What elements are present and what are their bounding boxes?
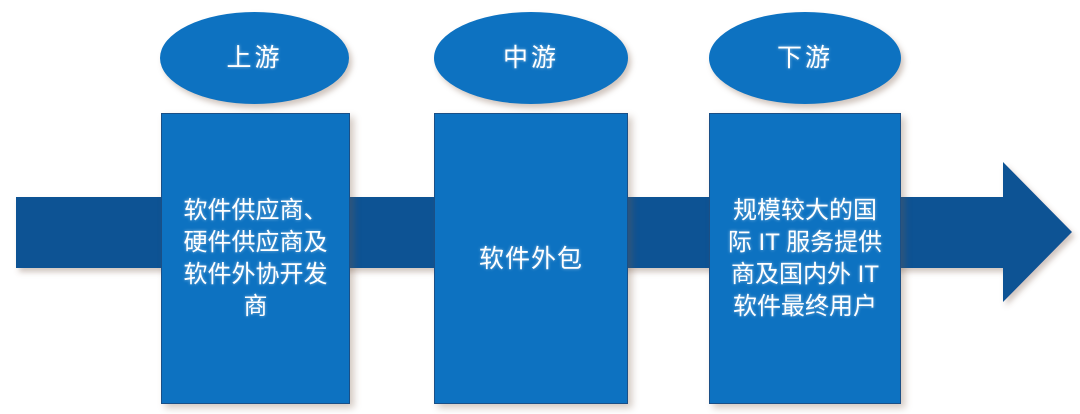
stage-box-downstream: 规模较大的国 际 IT 服务提供 商及国内外 IT 软件最终用户 (709, 113, 901, 404)
value-chain-diagram: 上游 软件供应商、 硬件供应商及 软件外协开发 商 中游 软件外包 下游 规模较… (0, 0, 1080, 414)
stage-ellipse-upstream: 上游 (160, 12, 349, 104)
stage-box-label-midstream: 软件外包 (475, 243, 587, 275)
stage-ellipse-downstream: 下游 (709, 12, 901, 104)
stage-ellipse-label-downstream: 下游 (777, 46, 833, 71)
stage-box-label-downstream: 规模较大的国 际 IT 服务提供 商及国内外 IT 软件最终用户 (724, 195, 886, 323)
stage-box-midstream: 软件外包 (434, 113, 628, 404)
stage-ellipse-label-upstream: 上游 (226, 46, 282, 71)
stage-ellipse-label-midstream: 中游 (503, 46, 559, 71)
stage-box-upstream: 软件供应商、 硬件供应商及 软件外协开发 商 (161, 113, 350, 404)
stage-box-label-upstream: 软件供应商、 硬件供应商及 软件外协开发 商 (180, 195, 332, 323)
stage-ellipse-midstream: 中游 (434, 12, 628, 104)
